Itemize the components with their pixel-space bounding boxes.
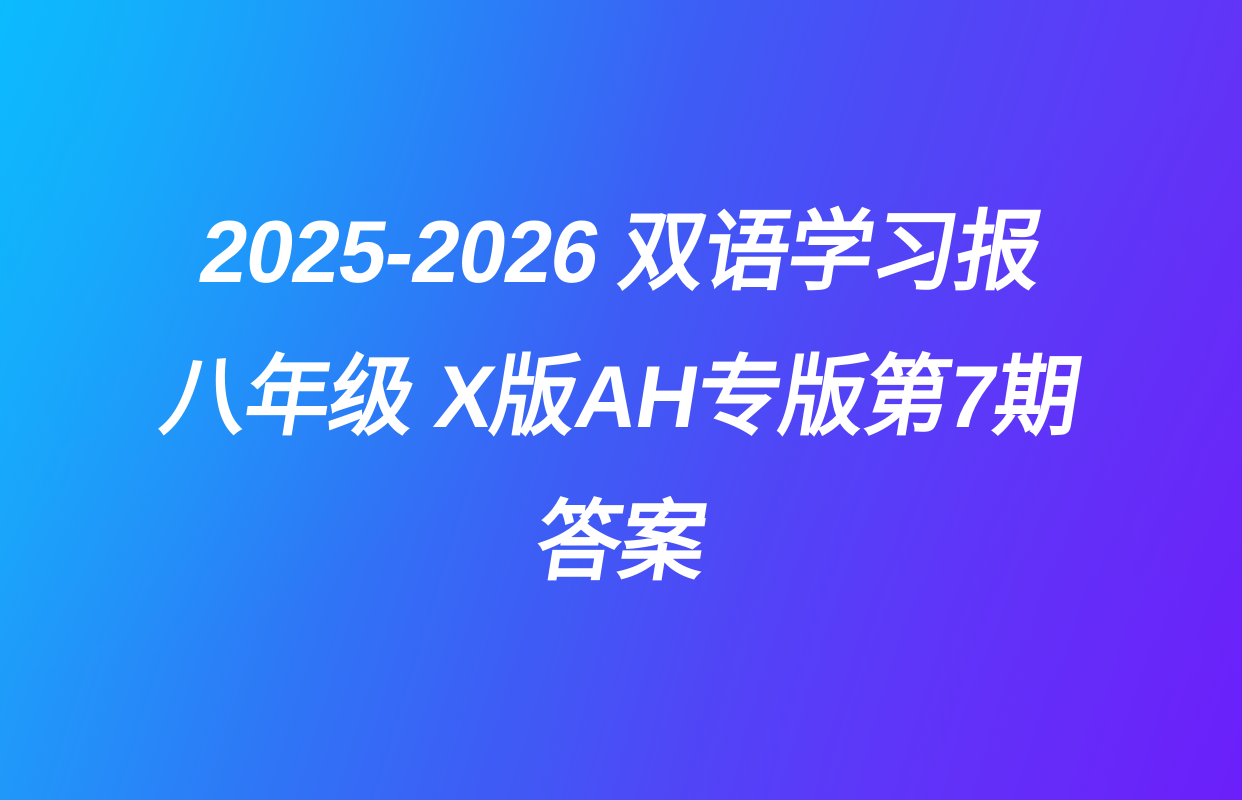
poster-canvas: 2025-2026 双语学习报 八年级 X版AH专版第7期 答案 — [0, 0, 1242, 800]
poster-title-line-1: 2025-2026 双语学习报 — [59, 179, 1182, 324]
poster-title-line-3: 答案 — [59, 469, 1182, 614]
poster-title-block: 2025-2026 双语学习报 八年级 X版AH专版第7期 答案 — [51, 179, 1191, 614]
poster-title-line-2: 八年级 X版AH专版第7期 — [59, 324, 1182, 469]
